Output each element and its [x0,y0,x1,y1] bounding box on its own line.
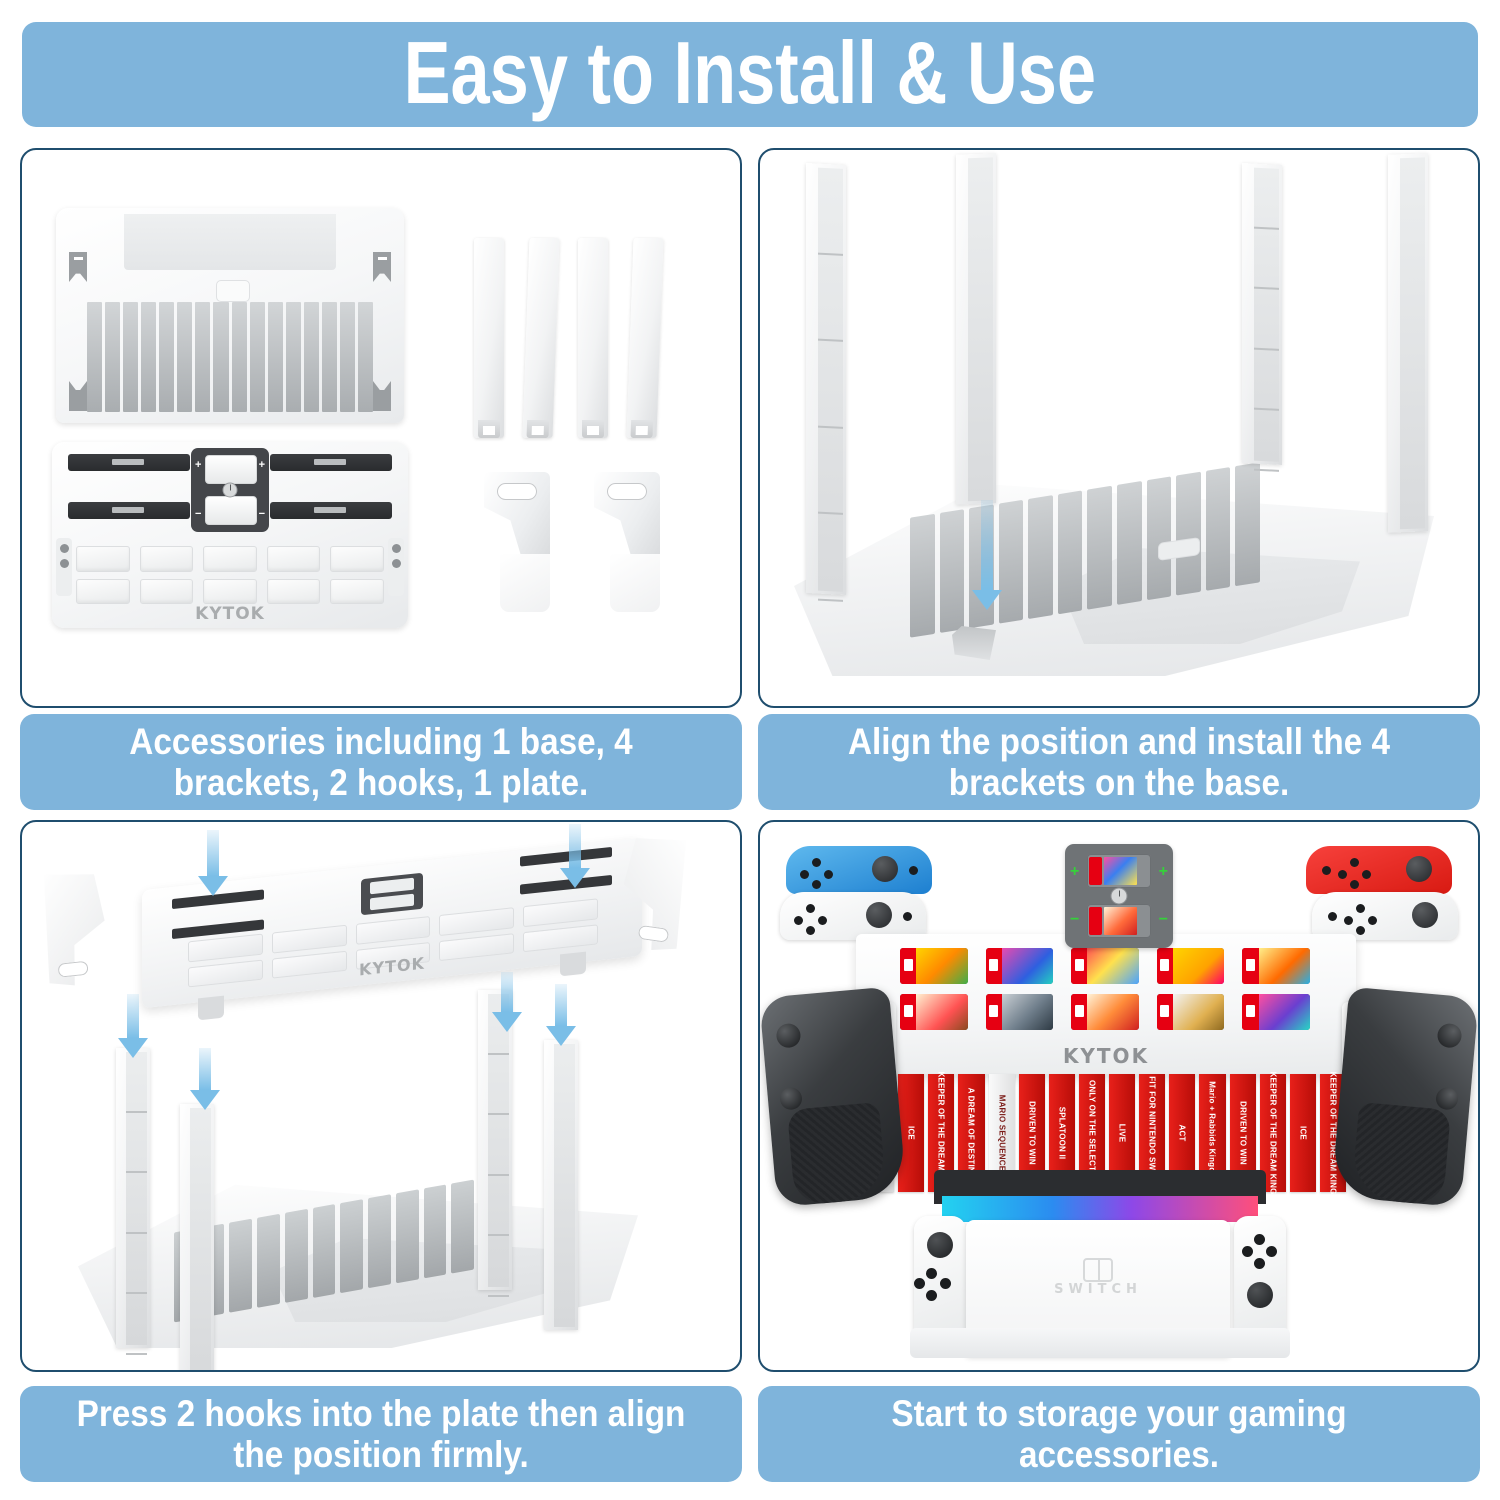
minus-marker-left: − [195,509,201,520]
plate-center-panel: + + − − [1065,844,1173,948]
game-case-title: ACT [1178,1124,1187,1141]
game-case-title: ICE [907,1126,916,1140]
hook-right [580,828,691,958]
plate-card-slots-filled [900,948,1310,1030]
base-dock-well [124,214,336,270]
hook-part-1 [484,472,550,612]
power-icon [223,483,238,498]
joycon-rail-3 [68,502,190,519]
minus-marker-right: − [259,509,265,520]
down-arrow-icon [972,500,1002,610]
joycon-dock-right [1234,1216,1286,1342]
plate-part: + + − − KYTOK [52,442,408,628]
plus-marker-left: + [195,460,201,471]
game-case-spine: ICE [1290,1074,1316,1192]
bracket-installed-3 [1388,153,1428,532]
minus-marker-left: − [1070,912,1079,928]
step-grid: + + − − KYTOK [0,140,1500,1500]
pro-controller-right [1331,987,1479,1208]
step-cell-2: Align the position and install the 4 bra… [758,148,1480,810]
pro-controller-left [759,987,907,1208]
plus-marker-right: + [1159,864,1168,880]
plus-marker-left: + [1070,864,1079,880]
step-cell-4: KYTOK + + − − [758,820,1480,1482]
game-card [1157,994,1225,1030]
down-arrow-icon [118,994,148,1058]
bracket-parts-group [474,238,714,458]
plate-center-panel: + + − − [191,448,269,532]
bracket-installed-2 [180,1104,214,1372]
game-card [900,994,968,1030]
down-arrow-icon [190,1048,220,1110]
bracket-insert-notch [952,626,996,660]
game-card [1071,994,1139,1030]
page-title: Easy to Install & Use [404,29,1097,117]
joycon-rail-2 [270,454,392,471]
step-1-image: + + − − KYTOK [20,148,742,708]
center-card-slot-top [205,455,257,484]
game-case-title: DRIVEN TO WIN [1238,1101,1247,1165]
base-rib-slots [87,302,373,412]
center-card-slot-bottom [1087,904,1151,938]
step-4-caption: Start to storage your gaming accessories… [758,1386,1480,1482]
bracket-part-4 [627,238,664,438]
down-arrow-icon [198,830,228,896]
bracket-installed-1 [806,163,846,595]
hook-parts-group [484,472,704,622]
step-cell-1: + + − − KYTOK [20,148,742,810]
step-2-image [758,148,1480,708]
plate-assembled: KYTOK [856,934,1356,1074]
joycon-blue [786,846,932,894]
brand-logo-plate: KYTOK [52,604,408,624]
bracket-socket-bottom-right [373,381,391,411]
joycon-white-right [1312,892,1458,940]
game-card [1242,948,1310,984]
step-4-image: KYTOK + + − − [758,820,1480,1372]
plate-hook-mount-right [388,538,404,596]
game-card [986,948,1054,984]
step-cell-3: KYTOK [20,820,742,1482]
joycon-red [1306,846,1452,894]
nintendo-logo-icon [1083,1258,1113,1282]
center-card-slot-top [1087,854,1151,888]
center-card-slot-bottom [205,496,257,525]
brand-logo-plate: KYTOK [856,1044,1356,1068]
joycon-white-left [780,892,926,940]
infographic-page: Easy to Install & Use [0,0,1500,1500]
game-case-title: ICE [1298,1126,1307,1140]
base-button-recess [216,280,250,302]
console-label: SWITCH [966,1282,1230,1297]
game-case-title: LIVE [1118,1124,1127,1143]
bracket-socket-top-left [69,252,87,282]
game-case-title: DRIVEN TO WIN [1027,1101,1036,1165]
bracket-installed-4 [544,1040,578,1330]
plate-card-slots [76,546,384,604]
joycon-rail-4 [270,502,392,519]
step-3-image: KYTOK [20,820,742,1372]
hook-part-2 [594,472,660,612]
game-card [986,994,1054,1030]
game-card [1242,994,1310,1030]
base-part [56,208,404,423]
step-1-caption: Accessories including 1 base, 4 brackets… [20,714,742,810]
plate-center-panel [361,873,423,916]
base-foot [910,1328,1290,1358]
joycon-rail-1 [68,454,190,471]
down-arrow-icon [546,984,576,1046]
step-2-caption: Align the position and install the 4 bra… [758,714,1480,810]
bracket-part-2 [523,238,560,438]
game-card [900,948,968,984]
plate-foot-2 [560,952,586,977]
plus-marker-right: + [259,460,265,471]
plate-hook-mount-left [56,538,72,596]
down-arrow-icon [492,972,522,1032]
bracket-installed-1 [116,1048,150,1348]
game-case-title: A DREAM OF DESTINY [967,1088,976,1179]
bracket-part-1 [474,238,504,438]
bracket-installed-3 [478,990,512,1290]
down-arrow-icon [560,824,590,888]
step-3-caption: Press 2 hooks into the plate then align … [20,1386,742,1482]
bracket-inserting [956,153,996,504]
game-case-title: MARIO SEQUENCE [997,1095,1006,1172]
header-banner: Easy to Install & Use [22,22,1478,127]
minus-marker-right: − [1159,912,1168,928]
game-case-title: SPLATOON II [1057,1107,1066,1160]
console-screen [942,1196,1258,1222]
bracket-socket-top-right [373,252,391,282]
power-icon [1111,888,1128,905]
bracket-part-3 [578,238,608,438]
joycon-dock-left [914,1216,966,1342]
game-card [1071,948,1139,984]
hook-left [38,865,146,992]
bracket-installed-2 [1242,163,1282,465]
plate-foot-1 [198,996,224,1021]
bracket-socket-bottom-left [69,381,87,411]
game-card [1157,948,1225,984]
